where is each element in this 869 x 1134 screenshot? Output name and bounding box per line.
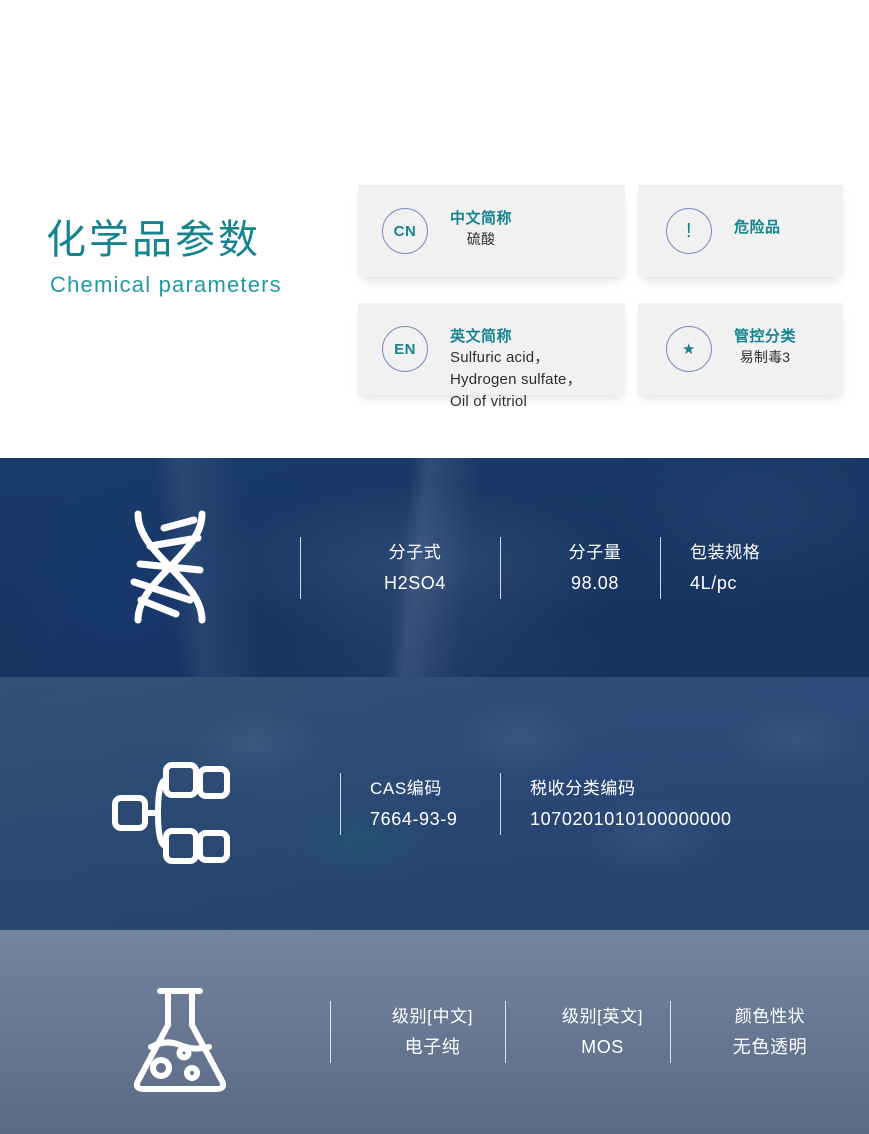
param-card-text: 管控分类 易制毒3 xyxy=(734,327,796,367)
field-label: 包装规格 xyxy=(690,538,840,568)
field-divider xyxy=(660,537,661,599)
field-label: 级别[中文] xyxy=(360,1002,505,1032)
page-title: 化学品参数 Chemical parameters xyxy=(46,214,346,300)
info-band-molecular: 分子式 H2SO4 分子量 98.08 包装规格 4L/pc xyxy=(0,458,869,677)
field-label: CAS编码 xyxy=(370,774,500,804)
field-package-spec: 包装规格 4L/pc xyxy=(660,458,840,677)
hierarchy-icon xyxy=(112,759,230,872)
param-card-english-name: EN 英文简称 Sulfuric acid， Hydrogen sulfate，… xyxy=(358,303,625,395)
field-label: 分子式 xyxy=(330,538,500,568)
field-label: 税收分类编码 xyxy=(530,774,820,804)
param-label: 英文简称 xyxy=(450,327,582,347)
field-divider xyxy=(300,537,301,599)
param-value: 易制毒3 xyxy=(734,347,796,367)
header-section: 化学品参数 Chemical parameters CN 中文简称 硫酸 ! 危… xyxy=(0,0,869,458)
param-value: 硫酸 xyxy=(450,229,512,249)
page-title-en: Chemical parameters xyxy=(50,270,346,300)
param-label: 中文简称 xyxy=(450,209,512,229)
info-band-grade: 级别[中文] 电子纯 级别[英文] MOS 颜色性状 无色透明 xyxy=(0,930,869,1134)
info-band-cas: CAS编码 7664-93-9 税收分类编码 10702010101000000… xyxy=(0,677,869,930)
field-value: 4L/pc xyxy=(690,568,840,598)
param-value-line: Hydrogen sulfate， xyxy=(450,369,582,391)
param-label: 危险品 xyxy=(734,218,781,238)
field-cas-number: CAS编码 7664-93-9 xyxy=(340,677,500,930)
field-value: 无色透明 xyxy=(700,1032,840,1062)
param-label: 管控分类 xyxy=(734,327,796,347)
param-card-text: 中文简称 硫酸 xyxy=(450,209,512,249)
field-value: 7664-93-9 xyxy=(370,804,500,834)
param-card-text: 危险品 xyxy=(734,218,781,238)
field-divider xyxy=(670,1001,671,1063)
field-value: 1070201010100000000 xyxy=(530,804,820,834)
dna-helix-icon xyxy=(118,508,222,631)
star-badge-icon: ★ xyxy=(666,326,712,372)
param-card-hazardous: ! 危险品 xyxy=(638,185,843,277)
field-molecular-weight: 分子量 98.08 xyxy=(500,458,660,677)
field-divider xyxy=(340,773,341,835)
field-value: 98.08 xyxy=(530,568,660,598)
field-label: 颜色性状 xyxy=(700,1002,840,1032)
exclamation-badge-icon: ! xyxy=(666,208,712,254)
page-title-cn: 化学品参数 xyxy=(46,214,346,266)
flask-icon xyxy=(128,985,232,1100)
param-card-text: 英文简称 Sulfuric acid， Hydrogen sulfate， Oi… xyxy=(450,327,582,413)
en-badge-icon: EN xyxy=(382,326,428,372)
param-card-control-class: ★ 管控分类 易制毒3 xyxy=(638,303,843,395)
field-label: 分子量 xyxy=(530,538,660,568)
field-divider xyxy=(500,537,501,599)
field-divider xyxy=(330,1001,331,1063)
field-value: 电子纯 xyxy=(360,1032,505,1062)
cn-badge-icon: CN xyxy=(382,208,428,254)
field-divider xyxy=(500,773,501,835)
field-molecular-formula: 分子式 H2SO4 xyxy=(300,458,500,677)
field-value: H2SO4 xyxy=(330,568,500,598)
field-label: 级别[英文] xyxy=(535,1002,670,1032)
field-value: MOS xyxy=(535,1032,670,1062)
field-divider xyxy=(505,1001,506,1063)
field-color-property: 颜色性状 无色透明 xyxy=(670,930,840,1134)
field-grade-chinese: 级别[中文] 电子纯 xyxy=(330,930,505,1134)
param-card-chinese-name: CN 中文简称 硫酸 xyxy=(358,185,625,277)
param-value-line: Oil of vitriol xyxy=(450,391,582,413)
field-grade-english: 级别[英文] MOS xyxy=(505,930,670,1134)
param-value-line: Sulfuric acid， xyxy=(450,347,582,369)
field-tax-class-code: 税收分类编码 1070201010100000000 xyxy=(500,677,820,930)
